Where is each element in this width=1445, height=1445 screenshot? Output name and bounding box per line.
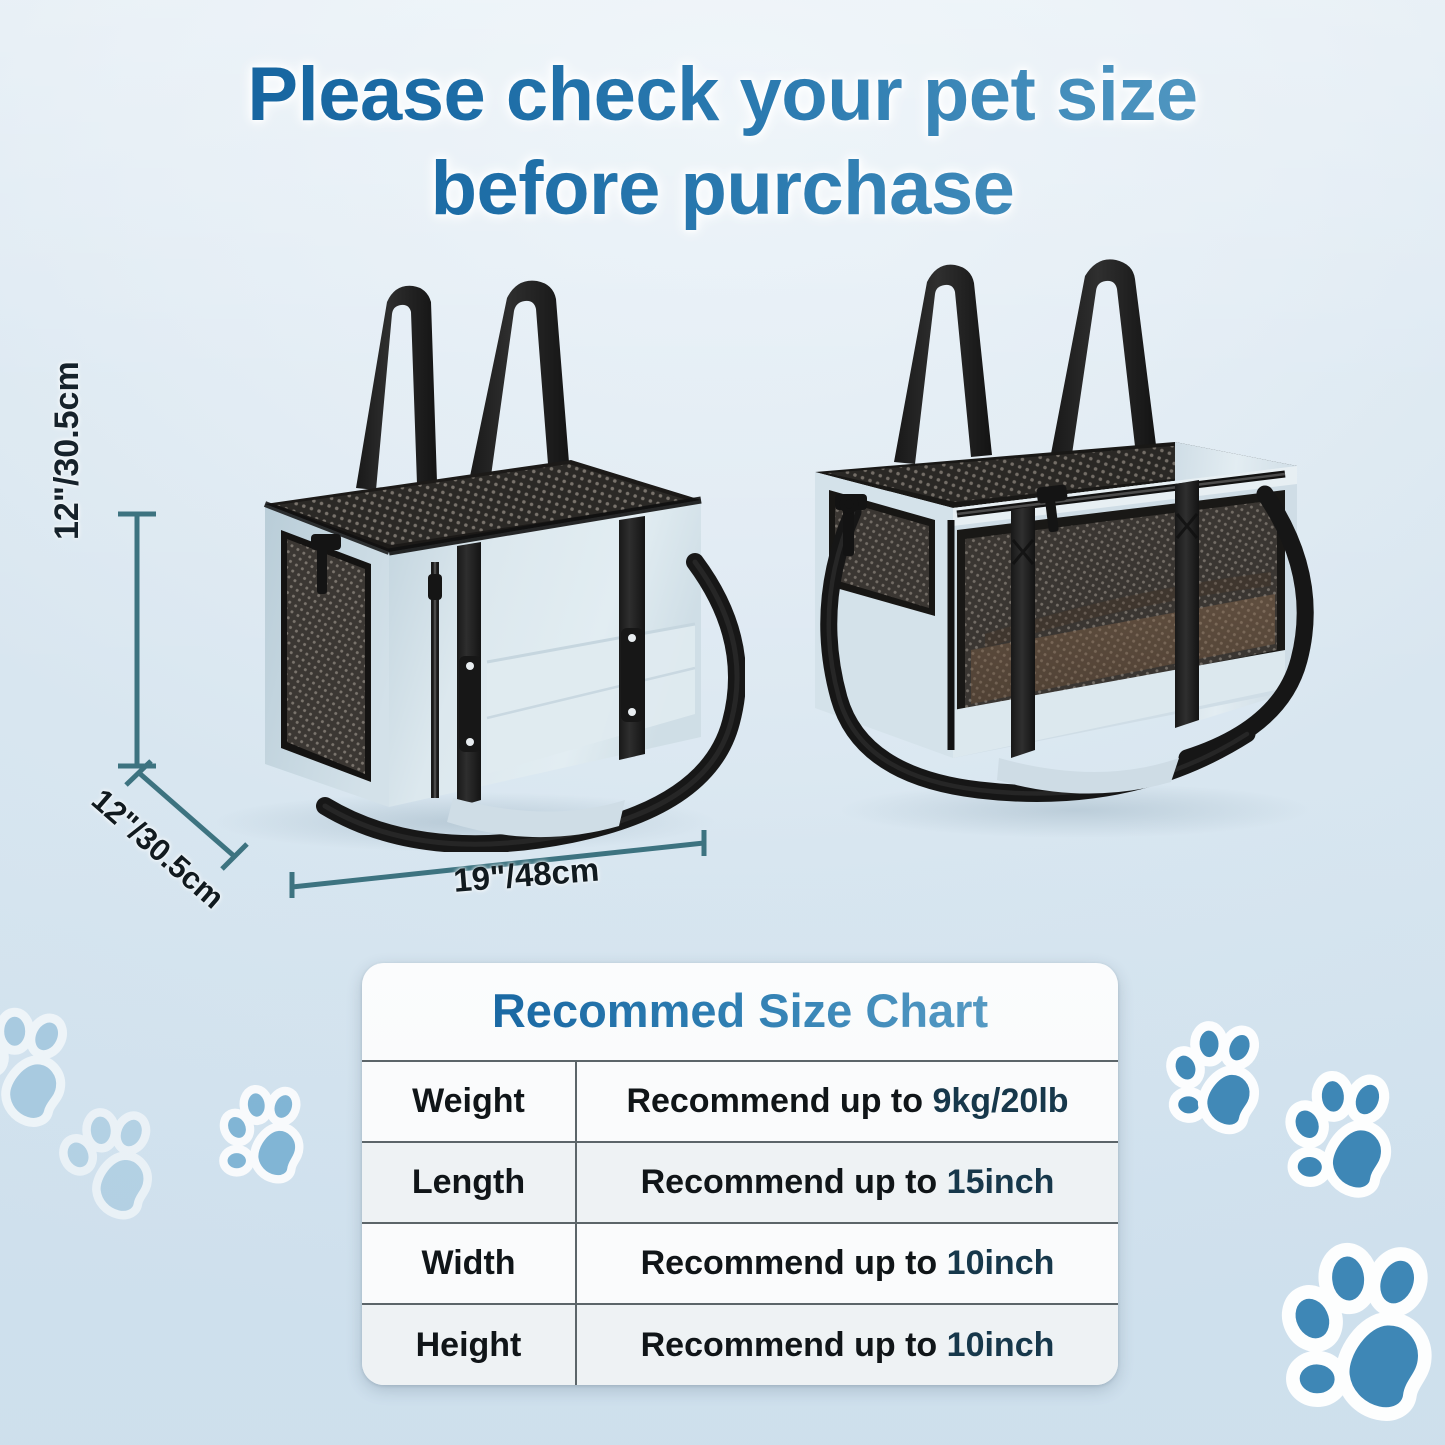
page-title: Please check your pet size before purcha… bbox=[0, 48, 1445, 236]
headline-line-1: Please check your pet size bbox=[0, 48, 1445, 142]
size-chart-title: Recommed Size Chart bbox=[362, 963, 1118, 1060]
row-value-highlight: 9kg/20lb bbox=[932, 1082, 1068, 1120]
table-cell-label: Height bbox=[362, 1304, 576, 1385]
paw-print-icon bbox=[1277, 1066, 1421, 1211]
row-value: Recommend up to 10inch bbox=[641, 1326, 1055, 1364]
size-chart-table: Weight Recommend up to 9kg/20lb Length R… bbox=[362, 1060, 1118, 1385]
table-cell-value: Recommend up to 10inch bbox=[576, 1223, 1118, 1304]
table-row: Length Recommend up to 15inch bbox=[362, 1142, 1118, 1223]
table-row: Weight Recommend up to 9kg/20lb bbox=[362, 1061, 1118, 1142]
row-value: Recommend up to 9kg/20lb bbox=[626, 1082, 1068, 1120]
table-row: Width Recommend up to 10inch bbox=[362, 1223, 1118, 1304]
infographic-canvas: Please check your pet size before purcha… bbox=[0, 0, 1445, 1445]
dimension-label-height: 12"/30.5cm bbox=[48, 361, 87, 540]
product-photo-right-bag bbox=[785, 258, 1345, 838]
table-cell-label: Length bbox=[362, 1142, 576, 1223]
paw-print-icon bbox=[1271, 1235, 1445, 1438]
row-label: Height bbox=[416, 1326, 522, 1364]
table-cell-value: Recommend up to 15inch bbox=[576, 1142, 1118, 1223]
paw-print-icon bbox=[52, 1103, 179, 1231]
row-value: Recommend up to 10inch bbox=[641, 1244, 1055, 1282]
table-cell-value: Recommend up to 10inch bbox=[576, 1304, 1118, 1385]
row-label: Width bbox=[421, 1244, 515, 1282]
row-value-prefix: Recommend up to bbox=[626, 1082, 932, 1120]
row-label: Weight bbox=[412, 1082, 525, 1120]
size-chart-card: Recommed Size Chart Weight Recommend up … bbox=[362, 963, 1118, 1385]
paw-print-icon bbox=[1157, 1016, 1286, 1147]
paw-print-icon bbox=[215, 1081, 325, 1192]
dimension-line-height bbox=[112, 500, 162, 785]
table-row: Height Recommend up to 10inch bbox=[362, 1304, 1118, 1385]
row-value: Recommend up to 15inch bbox=[641, 1163, 1055, 1201]
row-value-prefix: Recommend up to bbox=[641, 1326, 947, 1364]
row-label: Length bbox=[412, 1163, 525, 1201]
row-value-prefix: Recommend up to bbox=[641, 1244, 947, 1282]
row-value-prefix: Recommend up to bbox=[641, 1163, 947, 1201]
table-cell-value: Recommend up to 9kg/20lb bbox=[576, 1061, 1118, 1142]
table-cell-label: Width bbox=[362, 1223, 576, 1304]
headline-line-2: before purchase bbox=[0, 142, 1445, 236]
row-value-highlight: 15inch bbox=[947, 1163, 1055, 1201]
table-cell-label: Weight bbox=[362, 1061, 576, 1142]
row-value-highlight: 10inch bbox=[947, 1244, 1055, 1282]
row-value-highlight: 10inch bbox=[947, 1326, 1055, 1364]
